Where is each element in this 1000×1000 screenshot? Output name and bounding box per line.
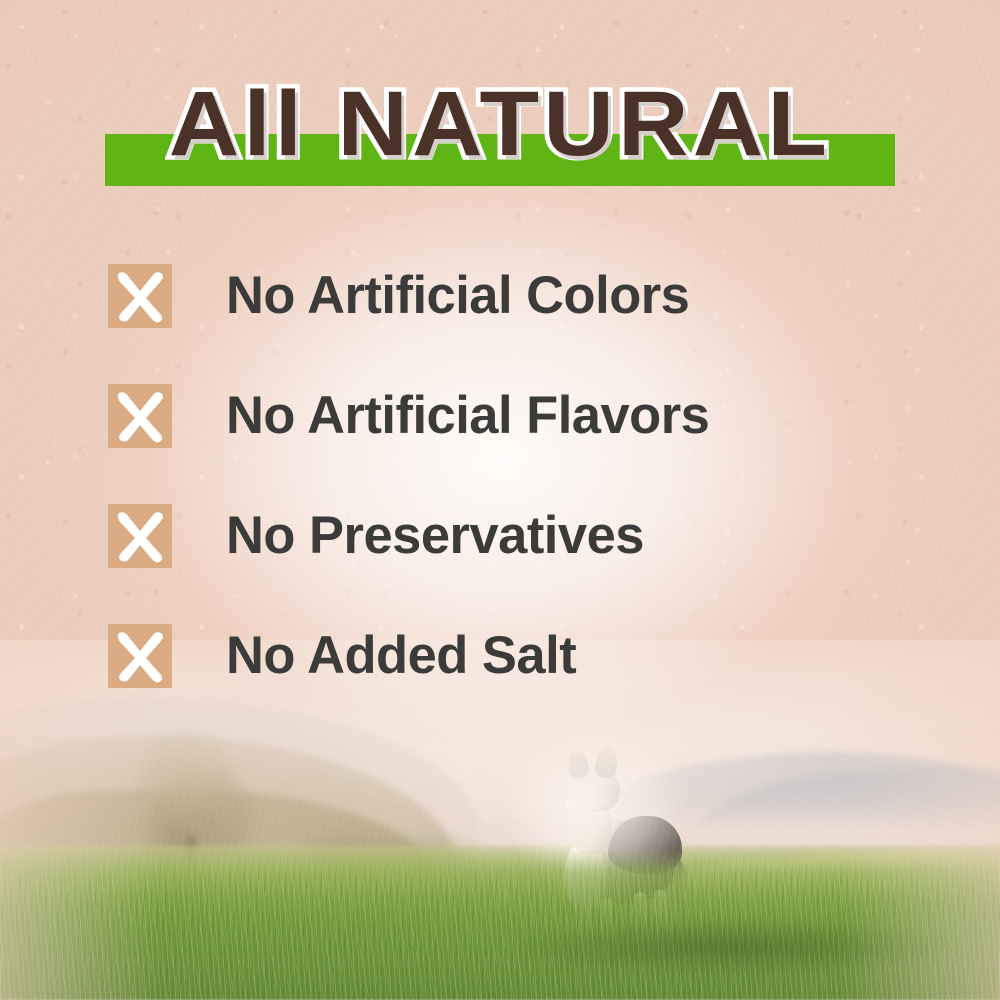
x-mark-icon: [108, 384, 172, 448]
x-mark-icon: [108, 624, 172, 688]
all-natural-infographic: All NATURAL No Artificial Colors No Arti…: [0, 0, 1000, 1000]
list-item-label: No Artificial Colors: [226, 267, 689, 325]
list-item-label: No Preservatives: [226, 507, 644, 565]
x-mark-icon: [108, 264, 172, 328]
list-item-label: No Added Salt: [226, 627, 576, 685]
list-item-label: No Artificial Flavors: [226, 387, 709, 445]
list-item: No Artificial Flavors: [108, 382, 908, 450]
claims-list: No Artificial Colors No Artificial Flavo…: [108, 262, 908, 742]
list-item: No Preservatives: [108, 502, 908, 570]
list-item: No Added Salt: [108, 622, 908, 690]
x-mark-icon: [108, 504, 172, 568]
banner: All NATURAL: [0, 72, 1000, 192]
list-item: No Artificial Colors: [108, 262, 908, 330]
banner-title: All NATURAL: [0, 72, 1000, 176]
